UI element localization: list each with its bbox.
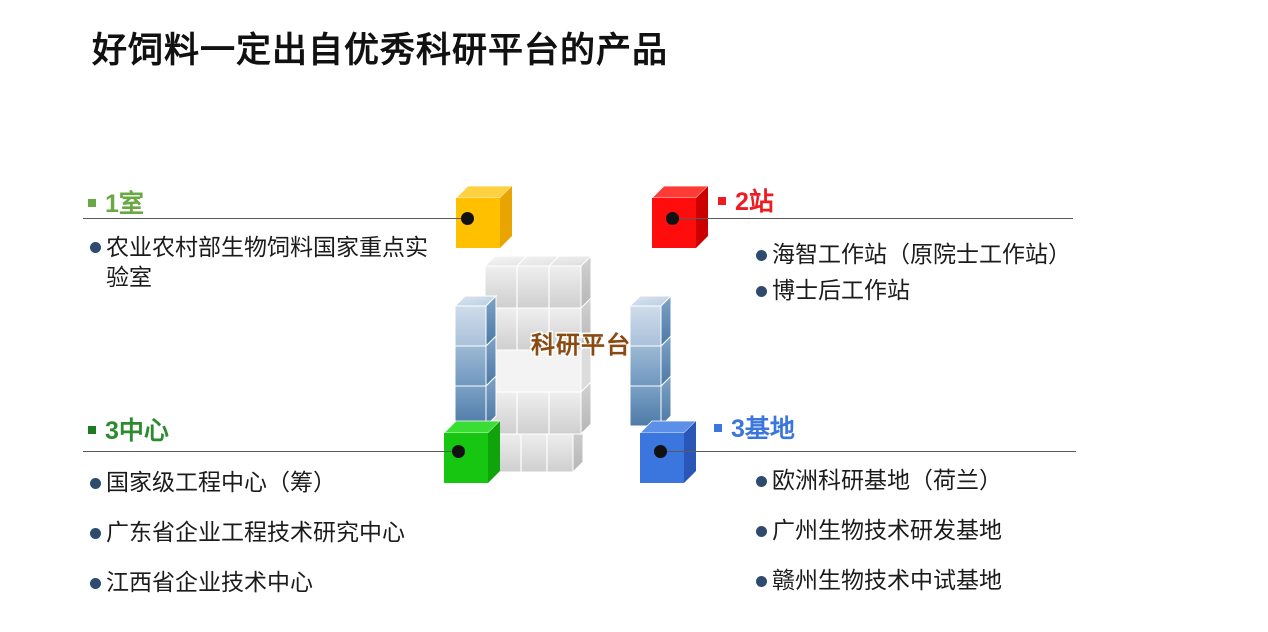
dot-bullet-icon bbox=[756, 526, 767, 537]
list-item: 国家级工程中心（筹） bbox=[90, 468, 520, 498]
list-item-label: 广东省企业工程技术研究中心 bbox=[106, 518, 405, 548]
list-item: 海智工作站（原院士工作站） bbox=[756, 240, 1186, 270]
quadrant-list-top-right: 海智工作站（原院士工作站） 博士后工作站 bbox=[756, 240, 1186, 312]
connector-line-top-right bbox=[672, 218, 1073, 219]
list-item-label: 赣州生物技术中试基地 bbox=[772, 566, 1002, 596]
quadrant-list-top-left: 农业农村部生物饲料国家重点实验室 bbox=[90, 232, 450, 293]
dot-bullet-icon bbox=[756, 576, 767, 587]
center-gray-stack bbox=[485, 256, 591, 472]
quadrant-heading-label: 1室 bbox=[105, 184, 144, 220]
page-title: 好饲料一定出自优秀科研平台的产品 bbox=[92, 22, 668, 73]
dot-bullet-icon bbox=[756, 476, 767, 487]
list-item-label: 农业农村部生物饲料国家重点实验室 bbox=[106, 232, 450, 293]
list-item-label: 广州生物技术研发基地 bbox=[772, 516, 1002, 546]
dot-bullet-icon bbox=[756, 286, 767, 297]
square-bullet-icon bbox=[714, 424, 722, 432]
connector-dot-bottom-left bbox=[452, 445, 465, 458]
square-bullet-icon bbox=[88, 199, 96, 207]
connector-line-bottom-left bbox=[83, 451, 459, 452]
connector-line-bottom-right bbox=[660, 451, 1076, 452]
red-cube bbox=[652, 186, 708, 248]
dot-bullet-icon bbox=[90, 578, 101, 589]
right-blue-column bbox=[630, 296, 671, 426]
list-item-label: 江西省企业技术中心 bbox=[106, 568, 313, 598]
list-item: 欧洲科研基地（荷兰） bbox=[756, 466, 1156, 496]
list-item-label: 欧洲科研基地（荷兰） bbox=[772, 466, 1002, 496]
quadrant-heading-top-right: 2站 bbox=[718, 182, 774, 218]
quadrant-heading-bottom-right: 3基地 bbox=[714, 409, 795, 445]
list-item-label: 海智工作站（原院士工作站） bbox=[772, 240, 1071, 270]
dot-bullet-icon bbox=[90, 478, 101, 489]
square-bullet-icon bbox=[718, 197, 726, 205]
blue-cube bbox=[640, 421, 696, 483]
connector-dot-top-left bbox=[461, 212, 474, 225]
connector-dot-top-right bbox=[666, 212, 679, 225]
list-item: 赣州生物技术中试基地 bbox=[756, 566, 1156, 596]
list-item: 农业农村部生物饲料国家重点实验室 bbox=[90, 232, 450, 293]
quadrant-list-bottom-left: 国家级工程中心（筹） 广东省企业工程技术研究中心 江西省企业技术中心 bbox=[90, 468, 520, 618]
connector-dot-bottom-right bbox=[654, 445, 667, 458]
square-bullet-icon bbox=[88, 426, 96, 434]
quadrant-heading-label: 3基地 bbox=[731, 409, 795, 445]
dot-bullet-icon bbox=[90, 528, 101, 539]
dot-bullet-icon bbox=[756, 250, 767, 261]
quadrant-heading-bottom-left: 3中心 bbox=[88, 411, 169, 447]
list-item-label: 国家级工程中心（筹） bbox=[106, 468, 336, 498]
slide-canvas: 好饲料一定出自优秀科研平台的产品 bbox=[0, 0, 1268, 632]
list-item: 江西省企业技术中心 bbox=[90, 568, 520, 598]
quadrant-heading-label: 2站 bbox=[735, 182, 774, 218]
quadrant-heading-top-left: 1室 bbox=[88, 184, 144, 220]
list-item-label: 博士后工作站 bbox=[772, 276, 910, 306]
list-item: 广东省企业工程技术研究中心 bbox=[90, 518, 520, 548]
quadrant-heading-label: 3中心 bbox=[105, 411, 169, 447]
list-item: 广州生物技术研发基地 bbox=[756, 516, 1156, 546]
center-platform-label: 科研平台 bbox=[519, 325, 643, 360]
left-blue-column bbox=[455, 296, 496, 426]
quadrant-list-bottom-right: 欧洲科研基地（荷兰） 广州生物技术研发基地 赣州生物技术中试基地 bbox=[756, 466, 1156, 616]
dot-bullet-icon bbox=[90, 242, 101, 253]
list-item: 博士后工作站 bbox=[756, 276, 1186, 306]
